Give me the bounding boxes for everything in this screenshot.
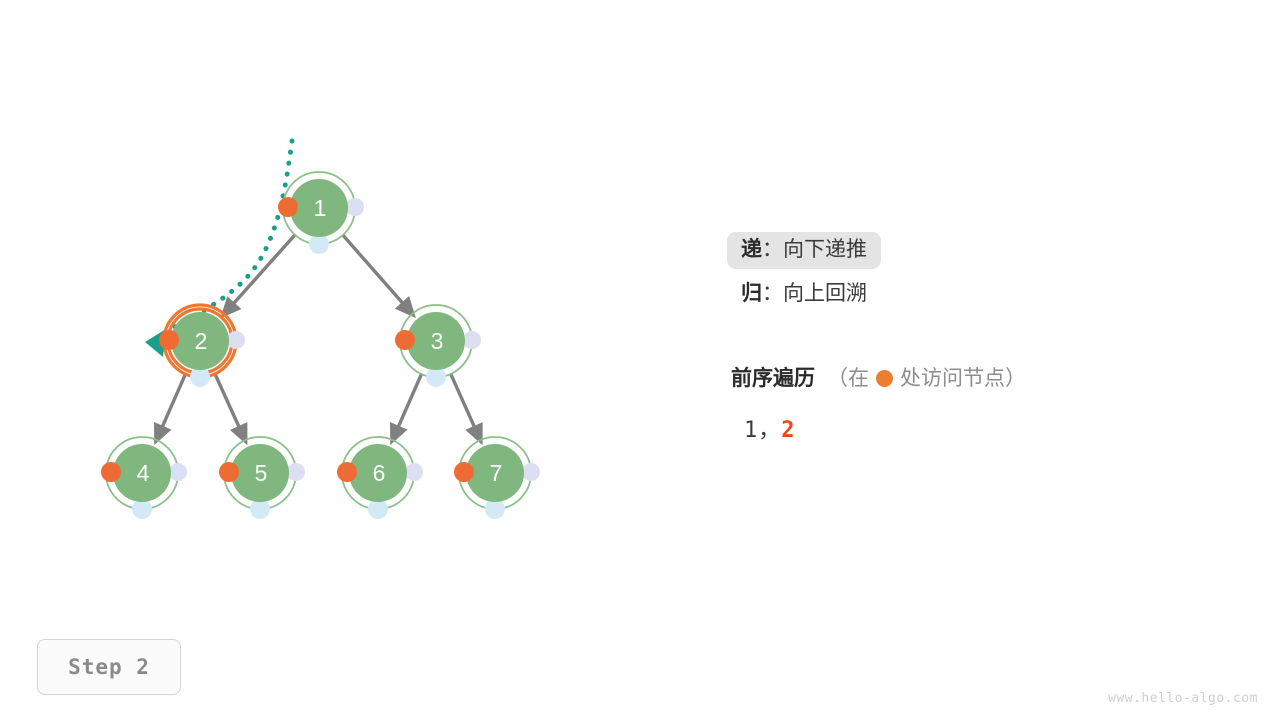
tree-edge-n3-n7 bbox=[451, 374, 478, 434]
tree-node-4[interactable]: 4 bbox=[101, 437, 187, 519]
postorder-dot-icon bbox=[463, 331, 481, 349]
node-label: 3 bbox=[431, 328, 444, 354]
legend-body-recurse: 向下递推 bbox=[783, 238, 867, 261]
legend-key-return: 归 bbox=[741, 282, 762, 305]
tree-edge-n1-n3 bbox=[343, 235, 408, 309]
node-label: 6 bbox=[373, 460, 386, 486]
preorder-dot-icon bbox=[337, 462, 357, 482]
preorder-dot-icon bbox=[278, 197, 298, 217]
traversal-visited: 1， bbox=[744, 418, 781, 443]
tree-edge-n2-n5 bbox=[215, 374, 243, 435]
watermark: www.hello-algo.com bbox=[1108, 691, 1258, 706]
postorder-dot-icon bbox=[405, 463, 423, 481]
recursion-path-line bbox=[175, 141, 292, 327]
preorder-dot-icon bbox=[219, 462, 239, 482]
legend-chip-recurse: 递：向下递推 bbox=[727, 232, 881, 269]
step-badge: Step 2 bbox=[37, 639, 181, 695]
tree-node-6[interactable]: 6 bbox=[337, 437, 423, 519]
tree-edge-n1-n2 bbox=[228, 235, 295, 309]
preorder-dot-icon bbox=[101, 462, 121, 482]
legend-row-return: 归：向上回溯 bbox=[727, 276, 1247, 320]
postorder-dot-icon bbox=[287, 463, 305, 481]
legend-key-recurse: 递 bbox=[741, 238, 762, 261]
traversal-note-close: 处访问节点） bbox=[900, 362, 1026, 392]
tree-node-5[interactable]: 5 bbox=[219, 437, 305, 519]
preorder-marker-icon bbox=[876, 370, 893, 387]
node-label: 2 bbox=[195, 328, 208, 354]
node-label: 4 bbox=[137, 460, 150, 486]
preorder-dot-icon bbox=[395, 330, 415, 350]
tree-diagram-canvas: 1234567 bbox=[0, 0, 1280, 720]
postorder-dot-icon bbox=[227, 331, 245, 349]
legend-row-recurse: 递：向下递推 bbox=[727, 232, 1247, 276]
recursion-legend: 递：向下递推 归：向上回溯 bbox=[727, 232, 1247, 320]
preorder-dot-icon bbox=[454, 462, 474, 482]
traversal-current: 2 bbox=[781, 418, 795, 443]
node-label: 5 bbox=[255, 460, 268, 486]
tree-edge-n2-n4 bbox=[159, 374, 185, 434]
legend-body-return: 向上回溯 bbox=[783, 282, 867, 305]
traversal-title: 前序遍历 bbox=[731, 362, 815, 392]
tree-nodes: 1234567 bbox=[101, 172, 540, 519]
postorder-dot-icon bbox=[169, 463, 187, 481]
traversal-title-row: 前序遍历 （在 处访问节点） bbox=[731, 362, 1251, 392]
node-label: 7 bbox=[490, 460, 503, 486]
legend-sep-recurse: ： bbox=[762, 238, 783, 261]
postorder-dot-icon bbox=[522, 463, 540, 481]
tree-node-2[interactable]: 2 bbox=[159, 305, 245, 387]
postorder-dot-icon bbox=[346, 198, 364, 216]
preorder-dot-icon bbox=[159, 330, 179, 350]
tree-node-3[interactable]: 3 bbox=[395, 305, 481, 387]
traversal-order-block: 前序遍历 （在 处访问节点） 1，2 bbox=[731, 362, 1251, 444]
tree-edge-n3-n6 bbox=[395, 374, 421, 434]
tree-node-7[interactable]: 7 bbox=[454, 437, 540, 519]
traversal-sequence: 1，2 bbox=[744, 412, 1251, 444]
legend-chip-return: 归：向上回溯 bbox=[727, 276, 881, 313]
legend-sep-return: ： bbox=[762, 282, 783, 305]
node-label: 1 bbox=[314, 195, 327, 221]
traversal-note-open: （在 bbox=[827, 362, 869, 392]
